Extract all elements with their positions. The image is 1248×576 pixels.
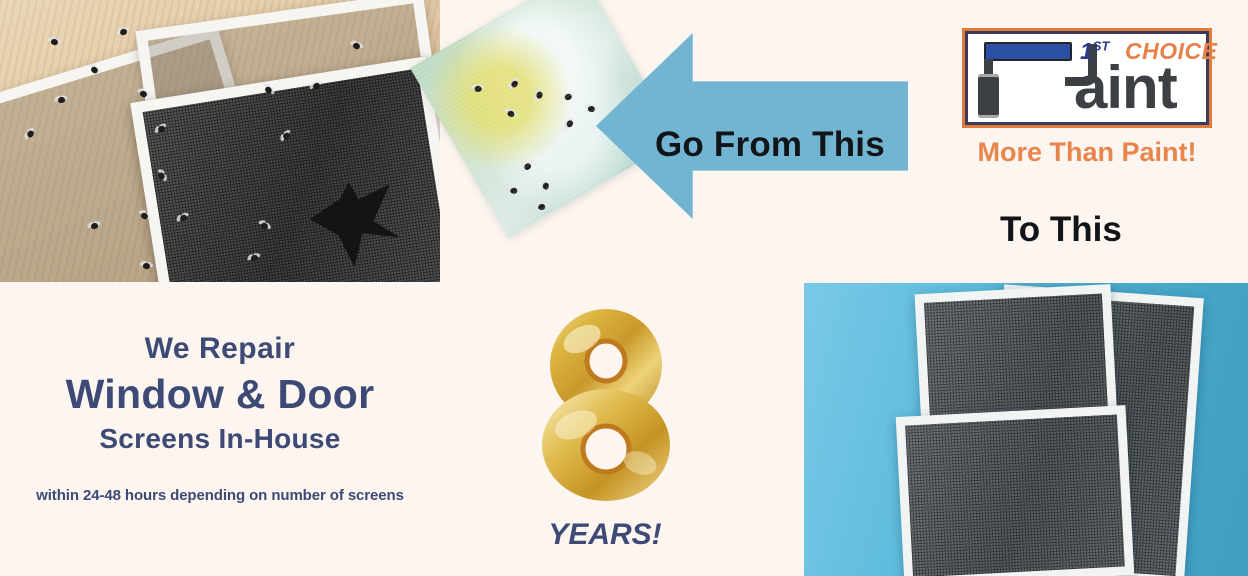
copy-line-2: Window & Door — [0, 368, 440, 421]
promotional-banner: Go From This 1ST CHOICE aint More Than P… — [0, 0, 1248, 576]
logo-first-suffix: ST — [1093, 38, 1110, 53]
copy-line-3: Screens In-House — [0, 421, 440, 457]
company-logo: 1ST CHOICE aint — [962, 28, 1212, 128]
gold-balloon-number — [536, 303, 676, 503]
fly-icon — [507, 77, 522, 92]
paint-roller-icon — [984, 42, 1072, 61]
fly-icon — [533, 88, 545, 103]
copy-fine-print: within 24-48 hours depending on number o… — [0, 487, 440, 504]
service-copy-block: We Repair Window & Door Screens In-House… — [0, 330, 440, 504]
celebrating-label: CELEBRATING — [487, 248, 723, 252]
fly-icon — [520, 159, 535, 174]
fly-icon — [503, 107, 518, 120]
anniversary-block: CELEBRATING — [462, 248, 748, 576]
years-label: YEARS! — [462, 518, 748, 552]
fly-icon — [534, 202, 548, 213]
logo-paint-text: aint — [1074, 58, 1177, 118]
damaged-screens-photo — [0, 0, 440, 282]
fly-icon — [561, 91, 576, 103]
go-from-this-label: Go From This — [655, 125, 895, 165]
copy-line-1: We Repair — [0, 330, 440, 368]
repaired-screens-photo — [804, 283, 1248, 576]
celebrating-arc-text: CELEBRATING — [462, 248, 748, 310]
fly-icon — [541, 179, 551, 193]
fly-icon — [563, 116, 577, 131]
fly-icon — [471, 85, 484, 93]
logo-tagline: More Than Paint! — [962, 137, 1212, 168]
screen-mesh — [905, 415, 1125, 576]
fly-icon — [507, 187, 520, 195]
repaired-screen-frame-front — [896, 405, 1135, 576]
screen-mesh — [143, 69, 440, 282]
paint-roller-handle-icon — [978, 74, 999, 118]
fly-icon — [584, 104, 598, 114]
